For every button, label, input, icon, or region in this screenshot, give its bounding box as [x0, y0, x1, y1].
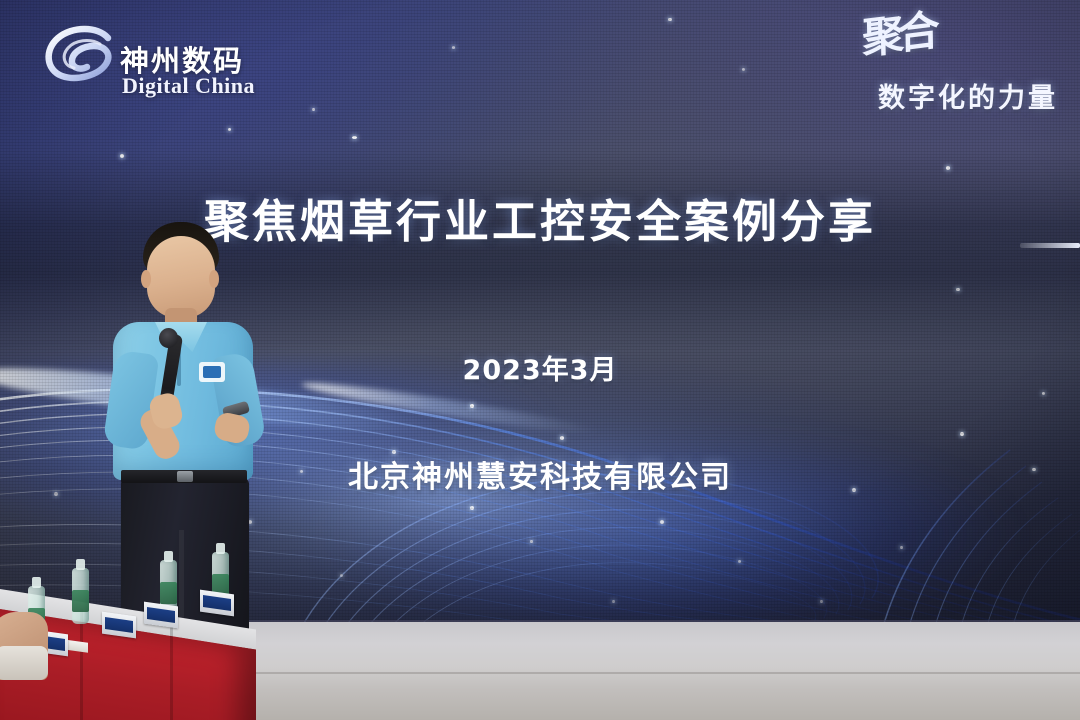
decorative-rule [1020, 243, 1080, 248]
seated-attendee [0, 612, 48, 680]
presenter-ear-left [141, 270, 151, 288]
belt-buckle [177, 471, 193, 482]
event-theme-logo: 聚合 数字化的力量 [814, 14, 1064, 119]
digital-china-logo: 神州数码 Digital China [42, 18, 282, 98]
event-brush-text: 聚合 [862, 9, 934, 60]
name-card [102, 612, 136, 639]
name-card [200, 590, 234, 617]
water-bottle [72, 568, 89, 624]
polo-chest-logo [199, 362, 225, 382]
event-tagline: 数字化的力量 [878, 76, 1058, 115]
brand-name-en: Digital China [122, 73, 255, 99]
name-card [144, 602, 178, 629]
conference-stage-scene: 聚焦烟草行业工控安全案例分享 2023年3月 北京神州慧安科技有限公司 [0, 0, 1080, 720]
presenter-ear-right [209, 270, 219, 288]
table-skirt-fold [80, 608, 83, 720]
presenter-head [147, 236, 215, 318]
